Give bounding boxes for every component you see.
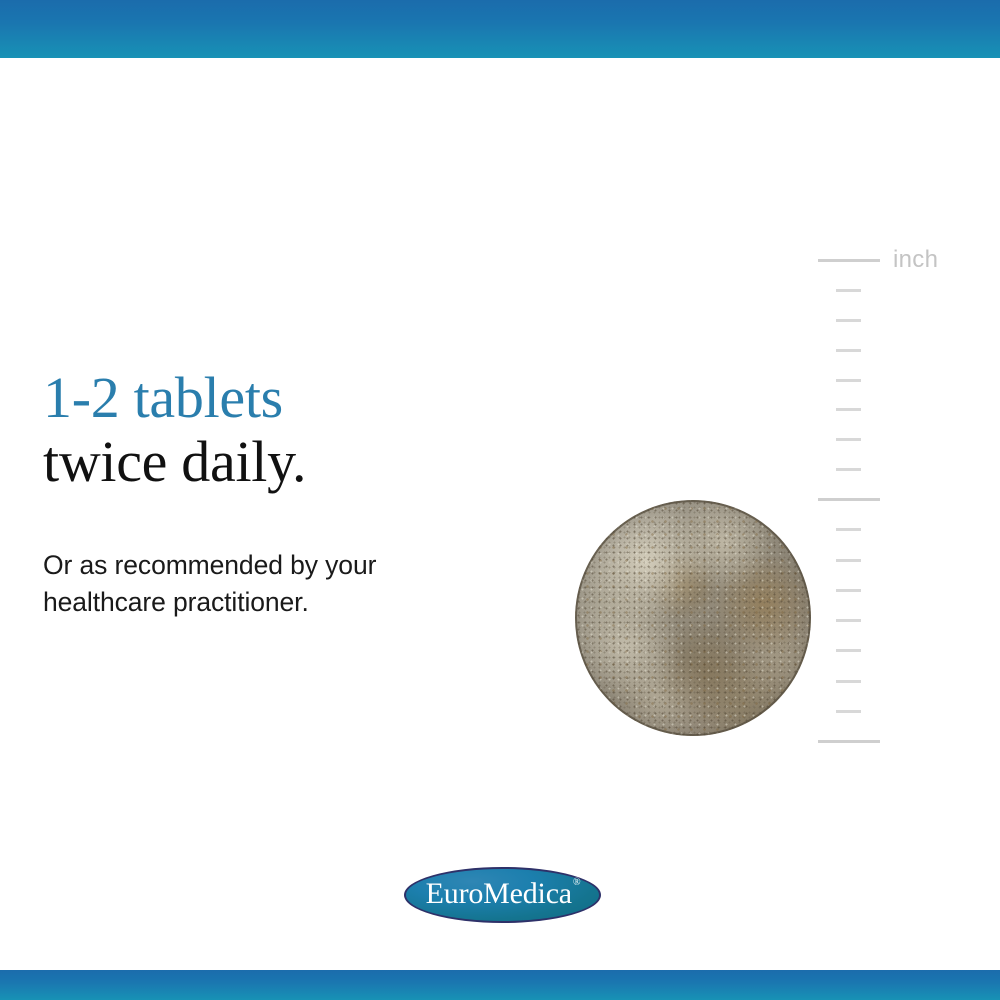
headline-frequency-line: twice daily. xyxy=(43,430,513,494)
round-tablet-photo xyxy=(575,500,811,736)
ruler-minor-tick xyxy=(836,468,861,471)
tablet-edge-ring xyxy=(575,500,811,736)
logo-oval-shape: EuroMedica® xyxy=(404,867,601,923)
ruler-major-tick-2 xyxy=(818,740,880,743)
headline-block: 1-2 tablets twice daily. xyxy=(43,366,513,494)
ruler-minor-tick xyxy=(836,559,861,562)
ruler-minor-tick xyxy=(836,289,861,292)
ruler-minor-tick xyxy=(836,528,861,531)
ruler-minor-tick xyxy=(836,680,861,683)
ruler-minor-tick xyxy=(836,379,861,382)
ruler-minor-tick xyxy=(836,408,861,411)
ruler-minor-tick xyxy=(836,438,861,441)
ruler-minor-tick xyxy=(836,619,861,622)
headline-dose-line: 1-2 tablets xyxy=(43,366,513,430)
ruler-minor-tick xyxy=(836,349,861,352)
inch-ruler-scale: inch xyxy=(815,250,985,760)
ruler-major-tick-0 xyxy=(818,259,880,262)
registered-trademark-icon: ® xyxy=(573,877,580,888)
body-copy-line-1: Or as recommended by your xyxy=(43,547,513,584)
product-directions-panel: 1-2 tablets twice daily. Or as recommend… xyxy=(0,0,1000,1000)
ruler-minor-tick xyxy=(836,319,861,322)
body-copy-line-2: healthcare practitioner. xyxy=(43,584,513,621)
ruler-minor-tick xyxy=(836,589,861,592)
ruler-minor-tick xyxy=(836,710,861,713)
logo-brand-name: EuroMedica xyxy=(426,877,572,910)
directions-body-copy: Or as recommended by your healthcare pra… xyxy=(43,547,513,621)
logo-brand-text: EuroMedica® xyxy=(426,879,580,909)
ruler-major-tick-1 xyxy=(818,498,880,501)
bottom-decorative-bar xyxy=(0,970,1000,1000)
ruler-minor-tick xyxy=(836,649,861,652)
product-image-container xyxy=(575,500,811,736)
ruler-unit-label: inch xyxy=(893,246,938,274)
top-decorative-bar xyxy=(0,0,1000,58)
euromedica-logo: EuroMedica® xyxy=(404,867,601,923)
